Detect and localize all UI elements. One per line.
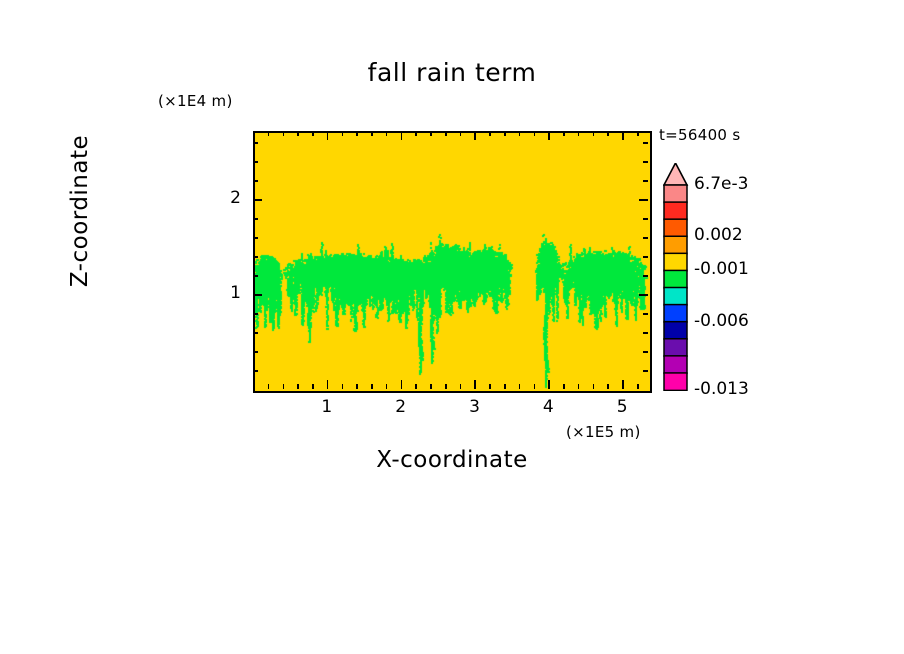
colorbar-swatches [663, 163, 689, 391]
x-tick [548, 380, 550, 389]
x-tick [342, 384, 344, 389]
x-tick-top [445, 131, 447, 136]
y-tick-right [643, 142, 648, 144]
x-tick [430, 384, 432, 389]
x-tick-label: 3 [454, 397, 494, 417]
x-tick-top [563, 131, 565, 136]
y-tick-right [643, 256, 648, 258]
x-tick [371, 384, 373, 389]
x-tick [637, 384, 639, 389]
x-tick [283, 384, 285, 389]
y-tick [253, 256, 258, 258]
x-tick-top [342, 131, 344, 136]
y-tick [253, 275, 258, 277]
x-tick-top [578, 131, 580, 136]
colorbar-band [664, 373, 687, 390]
x-tick [415, 384, 417, 389]
x-tick [622, 380, 624, 389]
colorbar-tick-label: 6.7e-3 [694, 174, 748, 194]
y-tick [253, 294, 262, 296]
x-tick [312, 384, 314, 389]
timestamp-label: t=56400 s [659, 126, 740, 144]
x-tick-top [607, 131, 609, 136]
x-tick-top [622, 131, 624, 140]
x-tick-top [312, 131, 314, 136]
y-tick-label: 1 [211, 283, 241, 303]
x-tick-label: 2 [381, 397, 421, 417]
colorbar-band [664, 270, 687, 287]
x-tick-label: 1 [307, 397, 347, 417]
x-tick [534, 384, 536, 389]
colorbar-tick-label: -0.013 [694, 379, 749, 399]
colorbar-band [664, 202, 687, 219]
x-tick-top [327, 131, 329, 140]
colorbar-band [664, 236, 687, 253]
x-tick-top [356, 131, 358, 136]
x-tick [445, 384, 447, 389]
x-tick-top [519, 131, 521, 136]
x-tick [268, 384, 270, 389]
x-tick-top [534, 131, 536, 136]
x-tick [386, 384, 388, 389]
x-axis-title: X-coordinate [0, 447, 904, 473]
y-axis-unit-label: (×1E4 m) [158, 92, 233, 110]
x-tick-top [548, 131, 550, 140]
colorbar-band [664, 305, 687, 322]
x-tick-top [474, 131, 476, 140]
y-tick [253, 332, 258, 334]
colorbar [663, 163, 689, 391]
x-tick-top [283, 131, 285, 136]
x-tick [460, 384, 462, 389]
y-tick-right [643, 218, 648, 220]
x-tick-top [268, 131, 270, 136]
x-tick-top [593, 131, 595, 136]
x-tick-top [401, 131, 403, 140]
y-tick [253, 199, 262, 201]
x-tick [474, 380, 476, 389]
x-tick [401, 380, 403, 389]
x-tick-label: 4 [528, 397, 568, 417]
colorbar-band [664, 322, 687, 339]
y-tick [253, 142, 258, 144]
y-tick [253, 351, 258, 353]
y-tick-right [643, 351, 648, 353]
x-tick-top [386, 131, 388, 136]
x-tick-top [460, 131, 462, 136]
x-tick-top [415, 131, 417, 136]
colorbar-band [664, 356, 687, 373]
y-tick [253, 370, 258, 372]
colorbar-band [664, 185, 687, 202]
x-tick-top [504, 131, 506, 136]
y-tick-right [643, 180, 648, 182]
x-tick-top [489, 131, 491, 136]
y-tick-right [643, 237, 648, 239]
y-tick-right [643, 332, 648, 334]
y-tick-right [643, 313, 648, 315]
x-tick [593, 384, 595, 389]
contour-plot-area [253, 131, 652, 393]
x-tick-top [371, 131, 373, 136]
x-tick [563, 384, 565, 389]
y-tick [253, 180, 258, 182]
chart-title: fall rain term [0, 58, 904, 87]
x-tick-top [297, 131, 299, 136]
rain-field-canvas [255, 133, 650, 391]
colorbar-tick-label: 0.002 [694, 225, 743, 245]
y-axis-title: Z-coordinate [67, 71, 93, 351]
x-tick [519, 384, 521, 389]
colorbar-band [664, 339, 687, 356]
colorbar-tick-label: -0.001 [694, 259, 749, 279]
x-tick-label: 5 [602, 397, 642, 417]
x-axis-unit-label: (×1E5 m) [566, 423, 641, 441]
x-tick [489, 384, 491, 389]
y-tick-right [643, 370, 648, 372]
y-tick [253, 313, 258, 315]
y-tick-right [643, 161, 648, 163]
y-tick-right [639, 294, 648, 296]
x-tick [578, 384, 580, 389]
colorbar-band [664, 288, 687, 305]
x-tick [504, 384, 506, 389]
x-tick-top [637, 131, 639, 136]
y-tick [253, 161, 258, 163]
figure-canvas: fall rain term (×1E4 m) t=56400 s 12345 … [0, 0, 904, 654]
colorbar-band [664, 253, 687, 270]
colorbar-band [664, 219, 687, 236]
x-tick [327, 380, 329, 389]
colorbar-arrow-top [664, 163, 687, 185]
y-tick [253, 237, 258, 239]
y-tick-label: 2 [211, 188, 241, 208]
x-tick [607, 384, 609, 389]
colorbar-tick-label: -0.006 [694, 311, 749, 331]
y-tick-right [643, 275, 648, 277]
y-tick [253, 218, 258, 220]
x-tick-top [430, 131, 432, 136]
y-tick-right [639, 199, 648, 201]
x-tick [356, 384, 358, 389]
x-tick [297, 384, 299, 389]
